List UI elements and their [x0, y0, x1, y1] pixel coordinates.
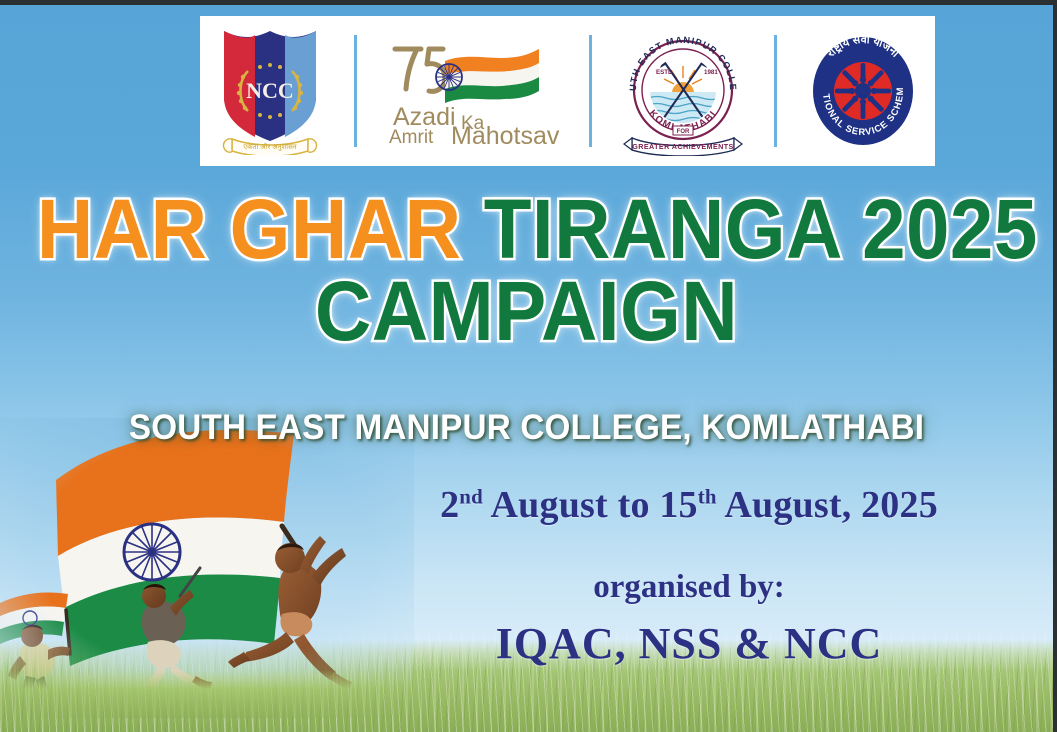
ncc-scroll-banner: एकता और अनुशासन: [223, 139, 316, 155]
svg-text:FOR: FOR: [677, 129, 690, 135]
svg-text:NCC: NCC: [246, 78, 294, 103]
svg-text:एकता और अनुशासन: एकता और अनुशासन: [243, 142, 297, 151]
azadi-ka-amrit-mahotsav-logo: Azadi Ka Amrit Mahotsav: [385, 37, 561, 145]
nss-logo: राष्ट्रीय सेवा योजना NATIONAL SERVICE SC…: [805, 29, 921, 153]
logo-cell-college: SOUTH EAST MANIPUR COLLEGE KOMLATHABI: [620, 26, 746, 156]
logo-divider-2: [589, 35, 592, 147]
south-east-manipur-college-logo: SOUTH EAST MANIPUR COLLEGE KOMLATHABI: [620, 26, 746, 156]
svg-text:1981: 1981: [704, 69, 718, 76]
svg-text:GREATER ACHIEVEMENTS: GREATER ACHIEVEMENTS: [632, 142, 733, 151]
logo-cell-azadi: Azadi Ka Amrit Mahotsav: [385, 26, 561, 156]
poster-canvas: NCC एकता और अनुशासन: [0, 0, 1057, 732]
logo-divider-3: [774, 35, 777, 147]
svg-text:Mahotsav: Mahotsav: [451, 122, 560, 145]
logo-cell-nss: राष्ट्रीय सेवा योजना NATIONAL SERVICE SC…: [805, 26, 921, 156]
svg-text:ESTD.: ESTD.: [656, 69, 675, 76]
logo-banner: NCC एकता और अनुशासन: [200, 16, 935, 166]
logo-divider-1: [354, 35, 357, 147]
ncc-logo: NCC एकता और अनुशासन: [214, 27, 326, 155]
logo-cell-ncc: NCC एकता और अनुशासन: [214, 26, 326, 156]
grass-field: [0, 640, 1053, 732]
svg-text:Amrit: Amrit: [389, 127, 434, 145]
